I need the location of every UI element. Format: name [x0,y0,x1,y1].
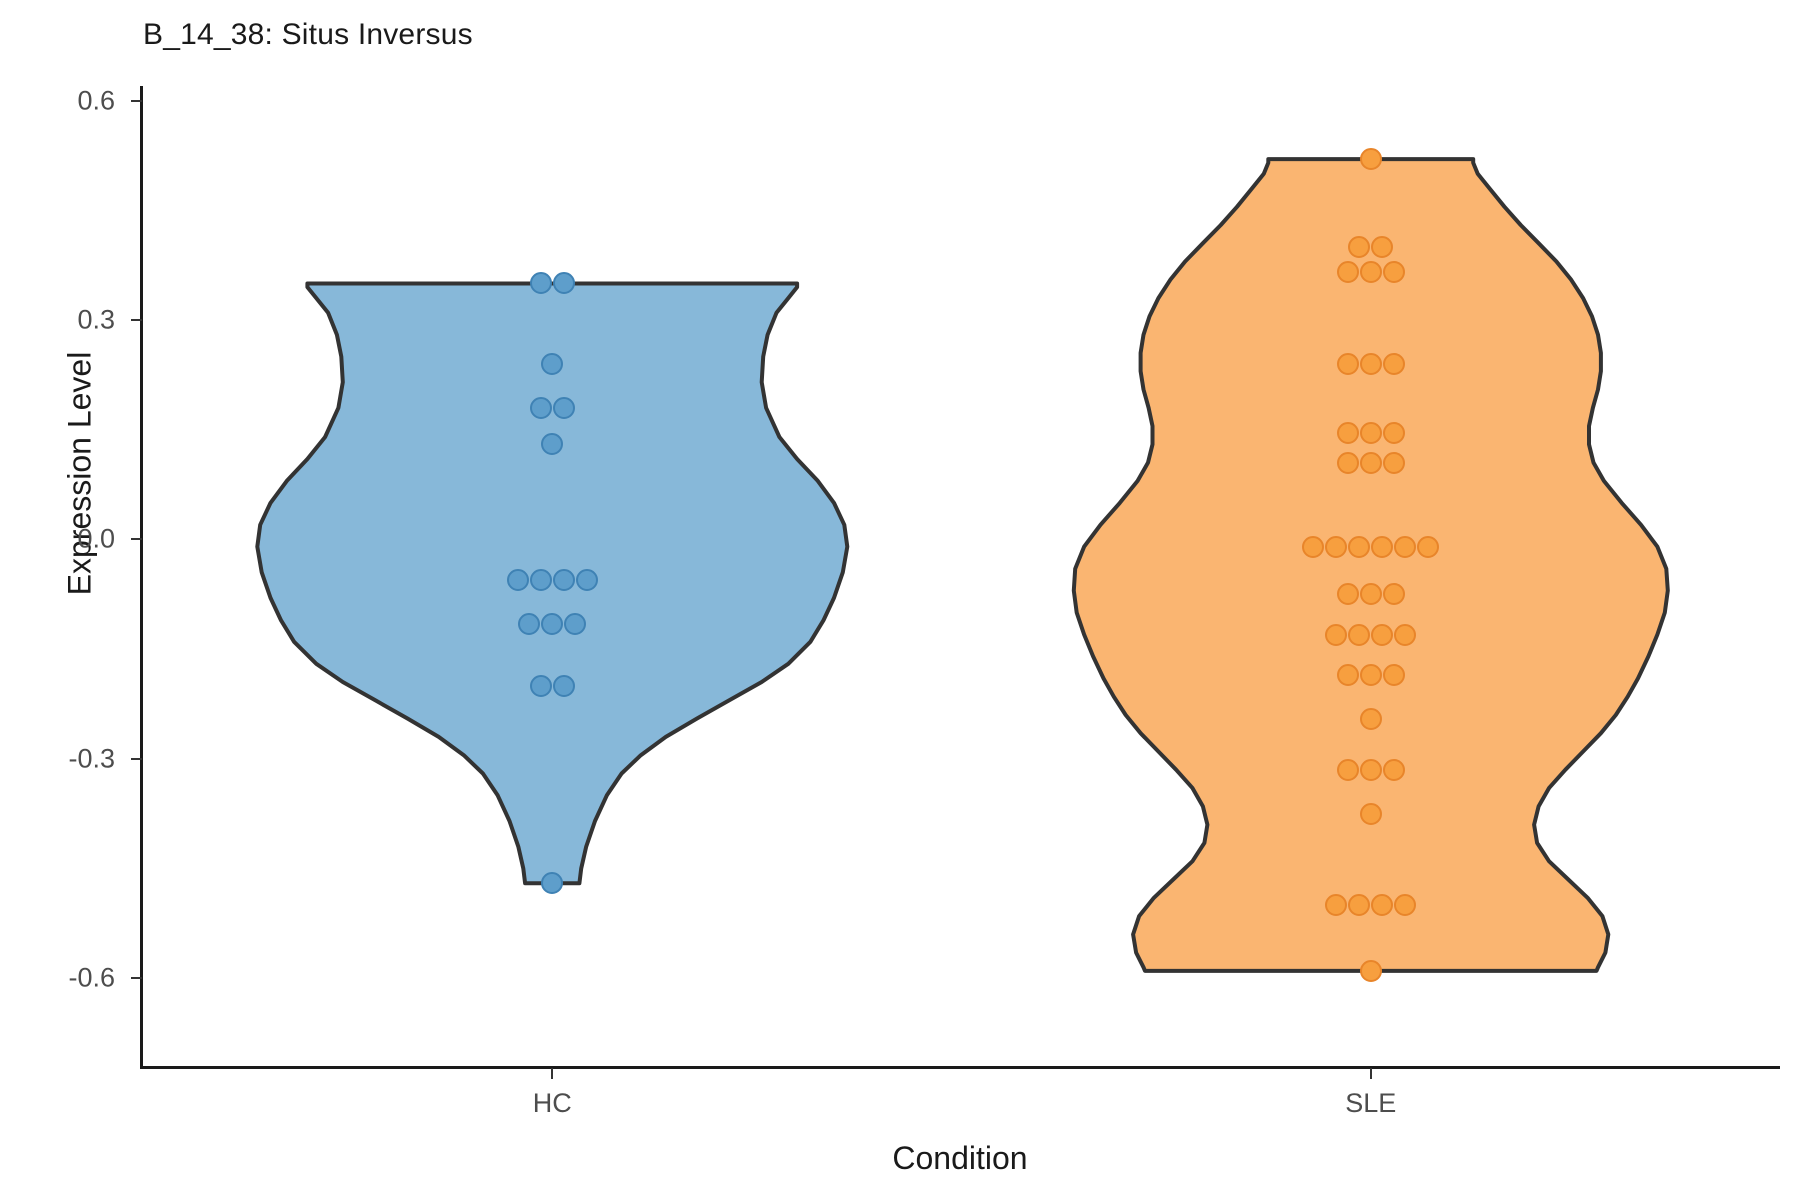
data-point [1360,422,1382,444]
y-tick-mark [131,100,142,102]
data-point [1383,353,1405,375]
data-point [1417,536,1439,558]
x-axis-title: Condition [140,1140,1780,1177]
data-point [1325,624,1347,646]
data-point [1383,452,1405,474]
x-tick-mark [551,1068,553,1079]
violin-shapes [143,86,1780,1066]
data-point [1383,583,1405,605]
violin-plot-figure: B_14_38: Situs Inversus Expression Level… [0,0,1800,1200]
data-point [1360,759,1382,781]
y-tick-mark [131,319,142,321]
data-point [1383,422,1405,444]
data-point [541,353,563,375]
data-point [518,613,540,635]
data-point [1337,452,1359,474]
y-tick-label: 0.3 [25,305,115,336]
y-tick-label: 0.0 [25,524,115,555]
data-point [1337,664,1359,686]
data-point [1337,759,1359,781]
data-point [1371,624,1393,646]
data-point [530,397,552,419]
data-point [553,569,575,591]
data-point [553,397,575,419]
data-point [1360,708,1382,730]
data-point [530,569,552,591]
y-tick-mark [131,538,142,540]
x-tick-mark [1370,1068,1372,1079]
data-point [1337,353,1359,375]
data-point [564,613,586,635]
page-title: B_14_38: Situs Inversus [143,18,473,52]
data-point [1360,452,1382,474]
data-point [1337,422,1359,444]
data-point [1360,148,1382,170]
x-tick-label-hc: HC [533,1088,572,1119]
data-point [1383,664,1405,686]
data-point [1383,759,1405,781]
data-point [1360,353,1382,375]
data-point [1337,583,1359,605]
x-axis-line [140,1066,1780,1069]
data-point [1302,536,1324,558]
data-point [1325,536,1347,558]
y-tick-mark [131,758,142,760]
data-point [1348,624,1370,646]
data-point [1360,583,1382,605]
data-point [1371,536,1393,558]
data-point [1360,664,1382,686]
data-point [1371,236,1393,258]
data-point [576,569,598,591]
y-tick-label: -0.6 [25,963,115,994]
y-tick-label: -0.3 [25,743,115,774]
data-point [541,613,563,635]
data-point [530,675,552,697]
data-point [1394,536,1416,558]
data-point [1360,960,1382,982]
y-tick-mark [131,977,142,979]
x-tick-label-sle: SLE [1345,1088,1396,1119]
data-point [507,569,529,591]
plot-panel [143,86,1780,1066]
data-point [1348,536,1370,558]
data-point [1394,624,1416,646]
data-point [1360,803,1382,825]
y-tick-label: 0.6 [25,85,115,116]
data-point [1348,236,1370,258]
data-point [553,675,575,697]
